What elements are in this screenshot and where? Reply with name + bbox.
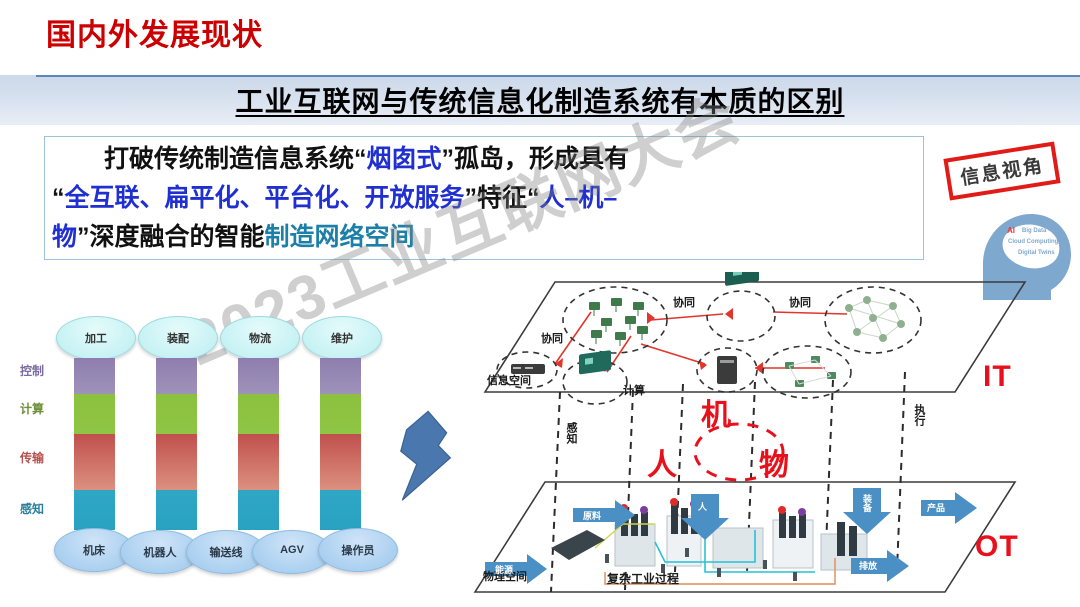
stack-seg-sense xyxy=(320,490,361,530)
statement-line1-part2: ”孤岛，形成具有 xyxy=(442,145,630,173)
stack-seg-transmit xyxy=(74,434,115,490)
statement-line3-highlight2: 制造网络空间 xyxy=(265,223,415,251)
center-term-human: 人 xyxy=(647,440,677,484)
transition-arrow xyxy=(398,408,458,508)
stack-seg-compute xyxy=(74,394,115,434)
row-label-compute: 计算 xyxy=(20,400,44,417)
top-node-label: 维护 xyxy=(303,330,381,346)
statement-line2-part1: “ xyxy=(52,184,65,212)
brain-word-ai: AI xyxy=(1007,226,1015,235)
row-label-control: 控制 xyxy=(20,362,44,379)
top-node-label: 加工 xyxy=(57,330,135,346)
label-sense: 感知 xyxy=(563,422,579,444)
statement-text: 打破传统制造信息系统“烟囱式”孤岛，形成具有 “全互联、扁平化、平台化、开放服务… xyxy=(52,140,918,257)
label-complex-process: 复杂工业过程 xyxy=(607,570,679,587)
label-it: IT xyxy=(983,360,1012,394)
page-title: 国内外发展现状 xyxy=(46,18,263,54)
flow-label-product: 产品 xyxy=(927,501,945,514)
brain-word-bigdata: Big Data xyxy=(1022,228,1046,234)
flow-label-human: 人 xyxy=(698,500,707,513)
flow-label-raw-material: 原料 xyxy=(583,509,601,522)
brain-word-cloud: Cloud Computing xyxy=(1008,239,1058,245)
row-label-transmit: 传输 xyxy=(20,449,44,466)
top-node-label: 装配 xyxy=(139,330,217,346)
label-compute: 计算 xyxy=(623,382,645,398)
stack-seg-sense xyxy=(156,490,197,530)
label-collab-1: 协同 xyxy=(541,330,563,346)
stack-seg-compute xyxy=(238,394,279,434)
row-label-sense: 感知 xyxy=(20,500,44,517)
stack-seg-compute xyxy=(156,394,197,434)
statement-line2-highlight: 全互联、扁平化、平台化、开放服务 xyxy=(65,184,465,212)
statement-line2-highlight2: 人–机– xyxy=(540,184,618,212)
label-collab-2: 协同 xyxy=(673,294,695,310)
stack-seg-control xyxy=(156,358,197,394)
stack-seg-transmit xyxy=(156,434,197,490)
stack-column-4 xyxy=(320,358,361,530)
stamp-label: 信息视角 xyxy=(958,151,1045,191)
statement-line3-part1: ”深度融合的智能 xyxy=(77,223,265,251)
flow-label-equipment: 装备 xyxy=(861,494,874,512)
brain-word-twins: Digital Twins xyxy=(1018,250,1055,256)
stack-seg-control xyxy=(320,358,361,394)
statement-line2-part2: ”特征“ xyxy=(465,184,540,212)
stack-seg-transmit xyxy=(320,434,361,490)
label-collab-3: 协同 xyxy=(789,294,811,310)
stack-column-2 xyxy=(156,358,197,530)
subtitle-band-topline xyxy=(36,75,1080,77)
top-node-label: 物流 xyxy=(221,330,299,346)
stack-seg-control xyxy=(74,358,115,394)
flow-label-emission: 排放 xyxy=(859,559,877,572)
top-node-maintenance[interactable]: 维护 xyxy=(302,316,382,360)
stack-column-3 xyxy=(238,358,279,530)
stack-seg-sense xyxy=(74,490,115,530)
right-cps-diagram: 信息空间 物理空间 复杂工业过程 协同 协同 协同 计算 感知 执行 IT OT… xyxy=(455,272,1080,607)
stack-seg-compute xyxy=(320,394,361,434)
subtitle-text: 工业互联网与传统信息化制造系统有本质的区别 xyxy=(0,80,1080,120)
top-node-logistics[interactable]: 物流 xyxy=(220,316,300,360)
bottom-node-label: 操作员 xyxy=(319,542,397,558)
chevron-right-icon xyxy=(398,408,458,508)
center-dashed-loop-icon xyxy=(681,418,801,498)
statement-line3-highlight: 物 xyxy=(52,223,77,251)
label-ot: OT xyxy=(975,530,1019,564)
bottom-node-operator[interactable]: 操作员 xyxy=(318,528,398,572)
top-node-assembly[interactable]: 装配 xyxy=(138,316,218,360)
flow-label-energy: 能源 xyxy=(495,563,513,576)
statement-line1-part1: 打破传统制造信息系统“ xyxy=(52,145,367,173)
stack-column-1 xyxy=(74,358,115,530)
status-badge-stamp: 信息视角 xyxy=(943,141,1060,200)
label-info-space: 信息空间 xyxy=(487,372,531,388)
stack-seg-control xyxy=(238,358,279,394)
left-layer-diagram: 控制 计算 传输 感知 加工 装配 物流 维护 机床 机器人 输送线 AGV 操… xyxy=(0,296,420,596)
stack-seg-sense xyxy=(238,490,279,530)
label-execute: 执行 xyxy=(911,404,927,426)
statement-line1-highlight: 烟囱式 xyxy=(367,145,442,173)
top-node-processing[interactable]: 加工 xyxy=(56,316,136,360)
stack-seg-transmit xyxy=(238,434,279,490)
